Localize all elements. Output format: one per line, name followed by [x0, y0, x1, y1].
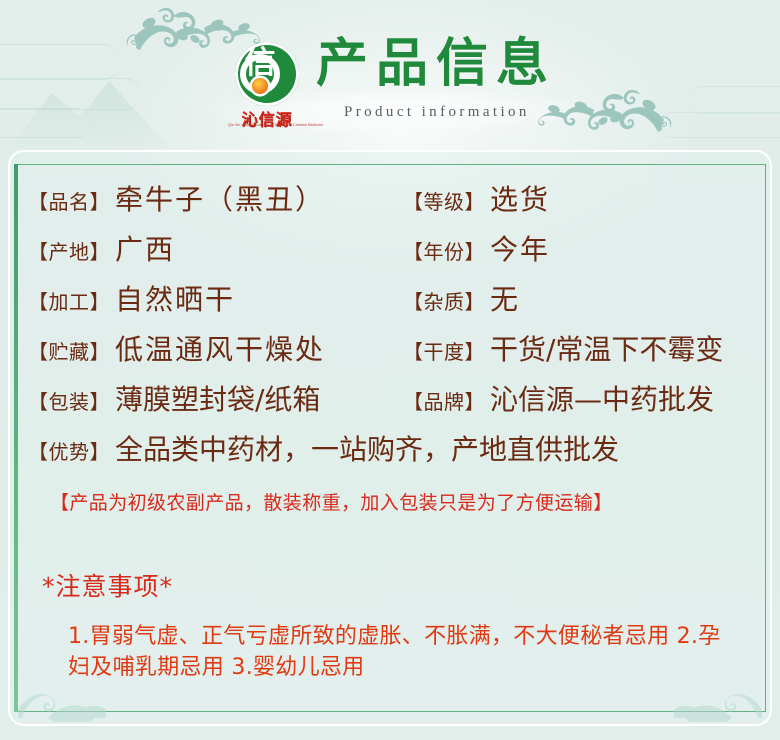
spec-label: 【品名】 [28, 186, 110, 215]
spec-label: 【加工】 [28, 286, 110, 315]
spec-value: 全品类中药材，一站购齐，产地直供批发 [115, 428, 619, 468]
spec-value: 无 [490, 278, 520, 318]
spec-item-processing: 【加工】 自然晒干 [28, 278, 403, 318]
cloud-outline-icon [0, 44, 121, 80]
spec-label: 【包装】 [28, 386, 110, 415]
spec-row: 【产地】 广西 【年份】 今年 [28, 228, 752, 278]
spec-label: 【干度】 [403, 336, 485, 365]
spec-row: 【贮藏】 低温通风干燥处 【干度】 干货/常温下不霉变 [28, 328, 752, 378]
product-info-page: 信 沁信源 Qin Xin Yuan Wholesale of Traditio… [0, 0, 780, 740]
spec-item-product-name: 【品名】 牵牛子（黑丑） [28, 178, 403, 218]
spec-label: 【等级】 [403, 186, 485, 215]
spec-label: 【贮藏】 [28, 336, 110, 365]
spec-content: 【品名】 牵牛子（黑丑） 【等级】 选货 【产地】 广西 【年份】 今年 【加工… [14, 164, 766, 712]
spec-label: 【年份】 [403, 236, 485, 265]
cloud-outline-icon [689, 86, 780, 114]
spec-value: 选货 [490, 178, 550, 218]
logo-orange-dot-icon [252, 78, 268, 94]
spec-value: 今年 [490, 228, 550, 268]
spec-label: 【杂质】 [403, 286, 485, 315]
spec-value: 牵牛子（黑丑） [115, 178, 325, 218]
spec-value: 自然晒干 [115, 278, 235, 318]
spec-value: 干货/常温下不霉变 [490, 328, 723, 368]
caution-body: 1.胃弱气虚、正气亏虚所致的虚胀、不胀满，不大便秘者忌用 2.孕妇及哺乳期忌用 … [28, 621, 752, 683]
logo-brand-subtitle: Qin Xin Yuan Wholesale of Traditional Ch… [228, 123, 306, 127]
spec-label: 【品牌】 [403, 386, 485, 415]
logo-glyph-icon: 信 [228, 48, 292, 79]
spec-item-storage: 【贮藏】 低温通风干燥处 [28, 328, 403, 368]
spec-row-advantage: 【优势】 全品类中药材，一站购齐，产地直供批发 [28, 428, 752, 478]
shipping-note: 【产品为初级农副产品，散装称重，加入包装只是为了方便运输】 [28, 488, 752, 515]
spec-row: 【包装】 薄膜塑封袋/纸箱 【品牌】 沁信源—中药批发 [28, 378, 752, 428]
spec-item-dryness: 【干度】 干货/常温下不霉变 [403, 328, 723, 368]
brand-logo: 信 沁信源 Qin Xin Yuan Wholesale of Traditio… [228, 42, 306, 130]
page-title: 产品信息 [316, 38, 556, 90]
spec-item-advantage: 【优势】 全品类中药材，一站购齐，产地直供批发 [28, 428, 752, 468]
spec-label: 【优势】 [28, 436, 110, 465]
page-subtitle: Product information [344, 104, 530, 121]
spec-item-year: 【年份】 今年 [403, 228, 550, 268]
spec-label: 【产地】 [28, 236, 110, 265]
spec-item-packaging: 【包装】 薄膜塑封袋/纸箱 [28, 378, 403, 418]
spec-value: 低温通风干燥处 [115, 328, 325, 368]
spec-item-grade: 【等级】 选货 [403, 178, 550, 218]
spec-row: 【品名】 牵牛子（黑丑） 【等级】 选货 [28, 178, 752, 228]
spec-value: 广西 [115, 228, 175, 268]
spec-item-impurity: 【杂质】 无 [403, 278, 520, 318]
spec-value: 薄膜塑封袋/纸箱 [115, 378, 320, 418]
caution-title: *注意事项* [28, 567, 752, 603]
spec-item-origin: 【产地】 广西 [28, 228, 403, 268]
spec-value: 沁信源—中药批发 [490, 378, 714, 418]
page-header: 信 沁信源 Qin Xin Yuan Wholesale of Traditio… [0, 0, 780, 148]
spec-item-brand: 【品牌】 沁信源—中药批发 [403, 378, 714, 418]
spec-row: 【加工】 自然晒干 【杂质】 无 [28, 278, 752, 328]
